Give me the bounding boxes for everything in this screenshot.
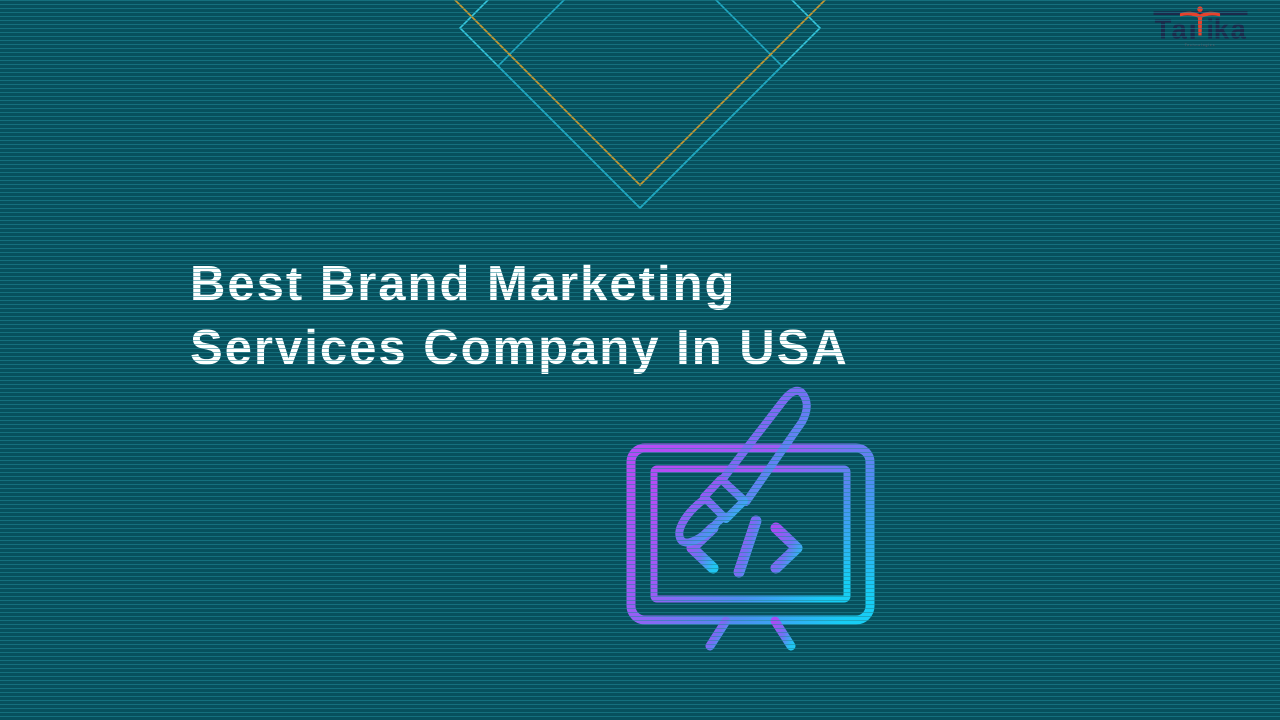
decorative-diamonds <box>0 0 1280 240</box>
paintbrush-bristles-icon <box>679 498 726 543</box>
cyan-diamond-outer-icon <box>460 0 820 208</box>
gold-diamond-icon <box>448 0 832 185</box>
slide-canvas: Best Brand Marketing Services Company In… <box>0 0 1280 720</box>
svg-text:k: k <box>1214 14 1230 44</box>
cyan-diamond-inner-icon <box>498 0 782 208</box>
page-title: Best Brand Marketing Services Company In… <box>190 252 1030 380</box>
code-slash-icon <box>739 521 756 572</box>
monitor-code-paintbrush-icon <box>618 378 883 663</box>
monitor-stand-right-leg <box>775 621 791 646</box>
paintbrush-ferrule-icon <box>704 479 744 519</box>
svg-text:i: i <box>1206 14 1213 44</box>
code-bracket-right-icon <box>776 528 797 568</box>
headline-line-1: Best Brand Marketing <box>190 252 1030 316</box>
monitor-stand-left-leg <box>710 621 726 646</box>
svg-text:T: T <box>1155 14 1172 44</box>
svg-text:a: a <box>1231 14 1247 44</box>
svg-text:a: a <box>1172 14 1188 44</box>
headline-line-2: Services Company In USA <box>190 316 1030 380</box>
brand-logo[interactable]: T a i k a Technologies <box>1146 6 1254 50</box>
tarika-wordmark-icon: T a i k a <box>1146 6 1254 44</box>
